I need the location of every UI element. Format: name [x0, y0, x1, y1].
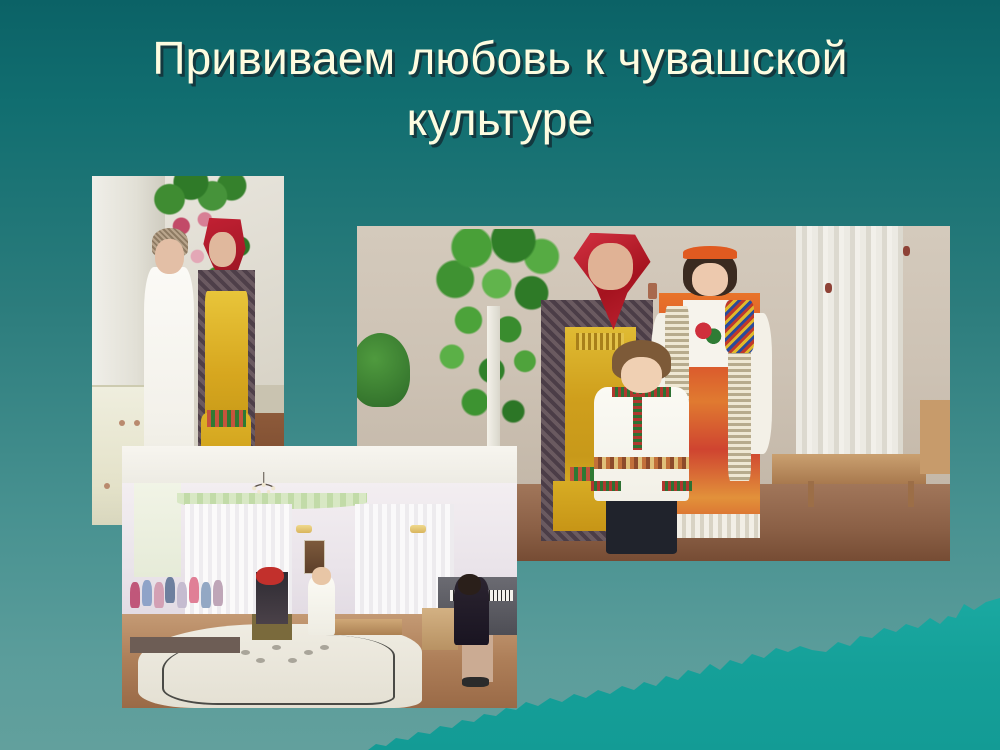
photo-hall-performance-with-children — [122, 446, 517, 708]
presentation-slide: Прививаем любовь к чувашской культуре — [0, 0, 1000, 750]
slide-title: Прививаем любовь к чувашской культуре — [50, 28, 950, 149]
